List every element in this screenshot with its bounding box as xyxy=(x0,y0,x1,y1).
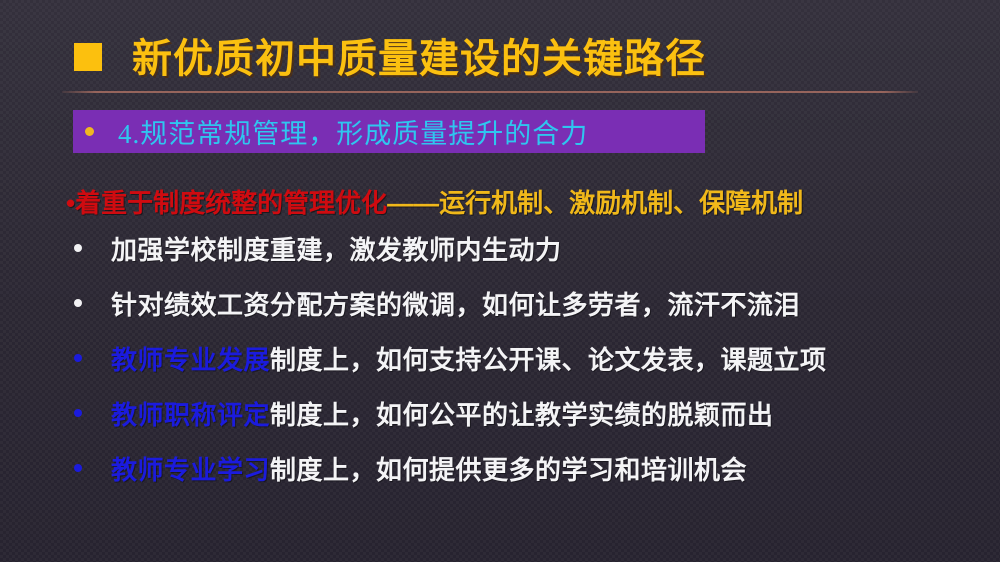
list-item-label: 教师专业发展制度上，如何支持公开课、论文发表，课题立项 xyxy=(111,340,827,377)
list-item-label: 加强学校制度重建，激发教师内生动力 xyxy=(111,230,562,267)
list-item-text: 制度上，如何公平的让教学实绩的脱颖而出 xyxy=(270,400,774,430)
list-item: 教师专业发展制度上，如何支持公开课、论文发表，课题立项 xyxy=(66,340,976,395)
square-bullet-icon xyxy=(74,43,102,71)
list-item: 加强学校制度重建，激发教师内生动力 xyxy=(66,230,976,285)
list-item-text: 制度上，如何提供更多的学习和培训机会 xyxy=(270,455,747,485)
page-title: 新优质初中质量建设的关键路径 xyxy=(132,26,706,84)
list-item-text: 制度上，如何支持公开课、论文发表，课题立项 xyxy=(270,345,827,375)
list-item-text: 加强学校制度重建，激发教师内生动力 xyxy=(111,235,562,265)
list-item: 针对绩效工资分配方案的微调，如何让多劳者，流汗不流泪 xyxy=(66,285,976,340)
list-item: 教师专业学习制度上，如何提供更多的学习和培训机会 xyxy=(66,450,976,505)
lead-statement-secondary: ——运行机制、激励机制、保障机制 xyxy=(387,188,803,218)
dot-bullet-icon xyxy=(74,354,82,362)
dot-bullet-icon xyxy=(85,127,94,136)
dot-bullet-icon xyxy=(74,299,82,307)
subtitle-label: 4.规范常规管理，形成质量提升的合力 xyxy=(118,112,588,151)
list-item: 教师职称评定制度上，如何公平的让教学实绩的脱颖而出 xyxy=(66,395,976,450)
slide-header: 新优质初中质量建设的关键路径 xyxy=(74,26,706,84)
lead-statement: •着重于制度统整的管理优化——运行机制、激励机制、保障机制 xyxy=(66,182,976,224)
list-item-label: 教师职称评定制度上，如何公平的让教学实绩的脱颖而出 xyxy=(111,395,774,432)
dot-bullet-icon xyxy=(74,409,82,417)
presentation-slide: 新优质初中质量建设的关键路径 4.规范常规管理，形成质量提升的合力 •着重于制度… xyxy=(0,0,1000,562)
header-divider xyxy=(62,91,918,93)
subtitle-banner: 4.规范常规管理，形成质量提升的合力 xyxy=(73,110,705,153)
list-item-highlight: 教师专业学习 xyxy=(111,455,270,485)
slide-body: •着重于制度统整的管理优化——运行机制、激励机制、保障机制 加强学校制度重建，激… xyxy=(66,182,976,505)
list-item-highlight: 教师职称评定 xyxy=(111,400,270,430)
dot-bullet-icon xyxy=(74,464,82,472)
dot-bullet-icon xyxy=(74,244,82,252)
list-item-highlight: 教师专业发展 xyxy=(111,345,270,375)
list-item-label: 教师专业学习制度上，如何提供更多的学习和培训机会 xyxy=(111,450,747,487)
list-item-label: 针对绩效工资分配方案的微调，如何让多劳者，流汗不流泪 xyxy=(111,285,800,322)
lead-statement-primary: •着重于制度统整的管理优化 xyxy=(66,188,387,218)
list-item-text: 针对绩效工资分配方案的微调，如何让多劳者，流汗不流泪 xyxy=(111,290,800,320)
